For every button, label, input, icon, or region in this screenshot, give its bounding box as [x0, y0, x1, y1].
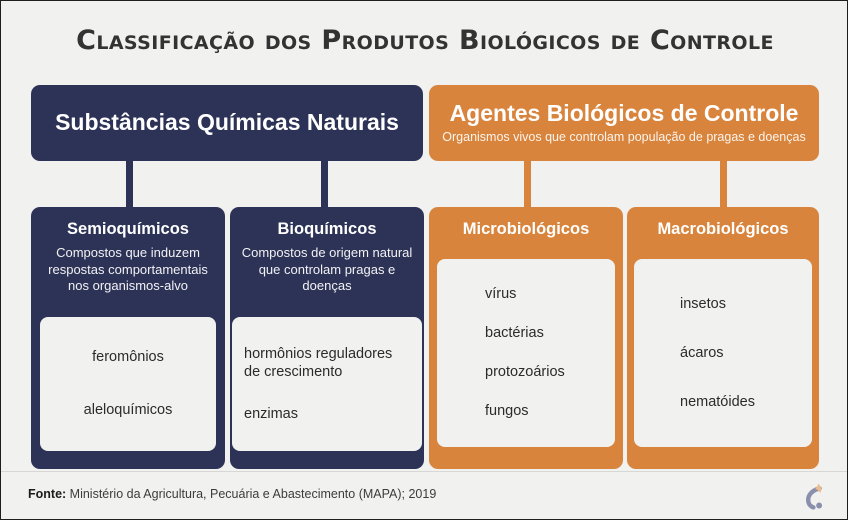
list-item: nematóides [680, 393, 755, 411]
source-label: Fonte: [28, 487, 66, 501]
item-panel-microbiologicos: vírus bactérias protozoários fungos [437, 259, 615, 447]
parent-card-agentes-biologicos-de-controle[interactable]: Agentes Biológicos de Controle Organismo… [429, 85, 819, 161]
page-title: Classificação dos Produtos Biológicos de… [1, 25, 848, 56]
child-title-microbiologicos: Microbiológicos [463, 220, 590, 239]
connector-left-bioquimicos [321, 161, 328, 211]
child-desc-bioquimicos: Compostos de origem natural que controla… [230, 245, 424, 295]
list-item: hormônios reguladores de crescimento [244, 345, 410, 381]
list-item: aleloquímicos [84, 401, 173, 419]
source-value: Ministério da Agricultura, Pecuária e Ab… [66, 487, 436, 501]
list-item: bactérias [485, 324, 544, 342]
child-title-semioquimicos: Semioquímicos [67, 220, 189, 239]
list-item: protozoários [485, 363, 565, 381]
list-item: vírus [485, 285, 516, 303]
item-panel-bioquimicos: hormônios reguladores de crescimento enz… [232, 317, 422, 451]
parent-title-left: Substâncias Químicas Naturais [55, 110, 399, 135]
infographic-canvas: Classificação dos Produtos Biológicos de… [0, 0, 848, 520]
list-item: feromônios [92, 348, 164, 366]
child-desc-semioquimicos: Compostos que induzem respostas comporta… [31, 245, 225, 295]
source-note: Fonte: Ministério da Agricultura, Pecuár… [28, 487, 436, 501]
connector-left-semioquimicos [126, 161, 133, 211]
footer-divider [1, 471, 848, 472]
list-item: ácaros [680, 344, 724, 362]
connector-right-macrobiologicos [720, 161, 727, 211]
connector-right-microbiologicos [524, 161, 531, 211]
list-item: insetos [680, 295, 726, 313]
parent-subtitle-right: Organismos vivos que controlam população… [434, 130, 813, 145]
parent-title-right: Agentes Biológicos de Controle [450, 101, 799, 126]
item-panel-macrobiologicos: insetos ácaros nematóides [634, 259, 812, 447]
parent-card-substancias-quimicas-naturais[interactable]: Substâncias Químicas Naturais [31, 85, 423, 161]
child-title-macrobiologicos: Macrobiológicos [657, 220, 788, 239]
brand-logo-icon [793, 477, 831, 515]
list-item: enzimas [244, 405, 298, 423]
list-item: fungos [485, 402, 529, 420]
child-title-bioquimicos: Bioquímicos [277, 220, 376, 239]
item-panel-semioquimicos: feromônios aleloquímicos [40, 317, 216, 451]
